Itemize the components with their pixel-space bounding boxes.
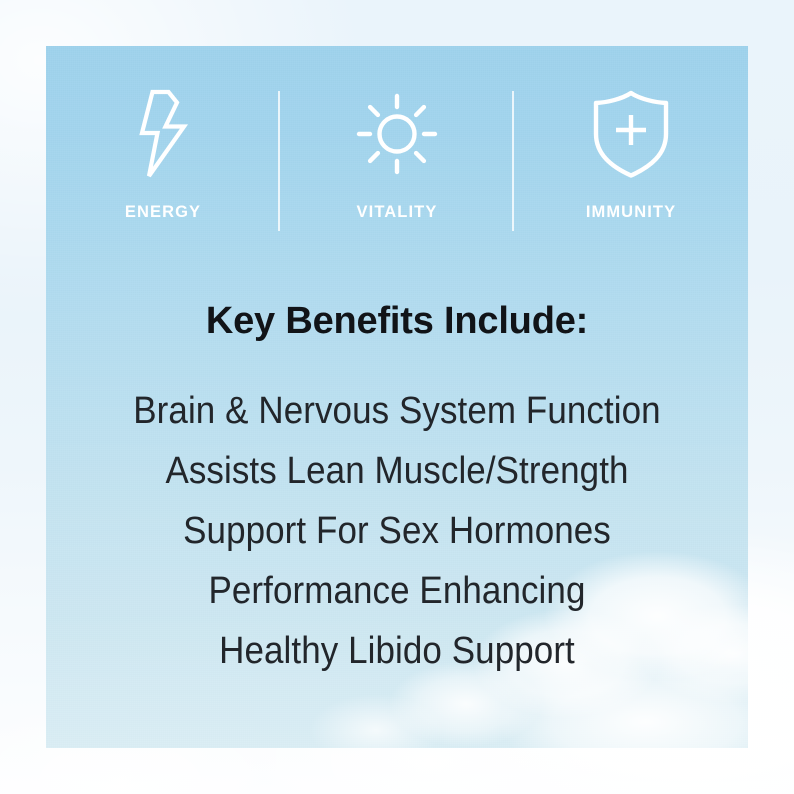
- benefits-heading: Key Benefits Include:: [46, 301, 748, 343]
- benefits-card: ENERGY: [46, 46, 748, 748]
- pillar-label-vitality: VITALITY: [357, 204, 438, 221]
- sky-background: ENERGY: [0, 0, 794, 794]
- benefit-item: Performance Enhancing: [74, 561, 720, 621]
- sun-icon: [353, 86, 441, 182]
- pillar-immunity: IMMUNITY: [514, 86, 748, 276]
- benefit-item: Healthy Libido Support: [74, 621, 720, 681]
- benefit-item: Brain & Nervous System Function: [74, 381, 720, 441]
- shield-plus-icon: [589, 86, 673, 182]
- pillar-vitality: VITALITY: [280, 86, 514, 276]
- benefit-item: Support For Sex Hormones: [74, 501, 720, 561]
- lightning-bolt-icon: [132, 86, 194, 182]
- benefit-pillars: ENERGY: [46, 86, 748, 276]
- pillar-label-energy: ENERGY: [125, 204, 201, 221]
- pillar-energy: ENERGY: [46, 86, 280, 276]
- benefit-item: Assists Lean Muscle/Strength: [74, 441, 720, 501]
- pillar-label-immunity: IMMUNITY: [586, 204, 676, 221]
- benefits-text-block: Key Benefits Include: Brain & Nervous Sy…: [46, 301, 748, 681]
